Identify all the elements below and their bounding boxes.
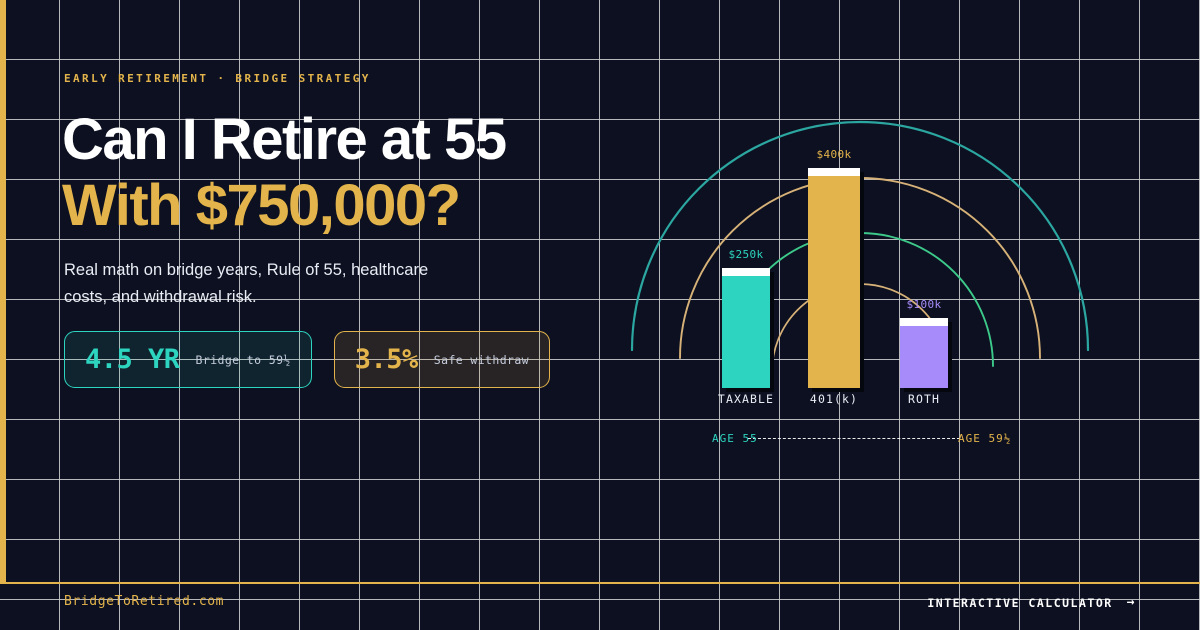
interactive-calculator-cta-label: INTERACTIVE CALCULATOR bbox=[927, 596, 1112, 610]
poster-canvas: EARLY RETIREMENT · BRIDGE STRATEGY Can I… bbox=[0, 0, 1200, 630]
bar-401k-body bbox=[808, 168, 860, 388]
timeline-age-end-label: AGE 59½ bbox=[958, 432, 1011, 445]
stat-badge-bridge: 4.5 YR Bridge to 59½ bbox=[64, 331, 312, 388]
bar-roth-body bbox=[900, 318, 948, 388]
stat-badge-withdrawal: 3.5% Safe withdraw bbox=[334, 331, 550, 388]
bar-401k-value: $400k bbox=[816, 148, 851, 161]
bar-401k-label: 401(k) bbox=[810, 392, 858, 406]
timeline-age-start-label: AGE 55 bbox=[712, 432, 758, 445]
page-title-line2: With $750,000? bbox=[62, 176, 460, 237]
stat-badge-withdrawal-value: 3.5% bbox=[355, 344, 418, 375]
page-title-line1: Can I Retire at 55 bbox=[62, 110, 506, 171]
footer-divider-rule bbox=[0, 582, 1200, 584]
interactive-calculator-cta[interactable]: INTERACTIVE CALCULATOR → bbox=[927, 595, 1136, 610]
account-balance-bar-chart: $250k TAXABLE $400k 401(k) $100k ROTH bbox=[600, 120, 1160, 470]
footer-site-name[interactable]: BridgeToRetired.com bbox=[64, 594, 224, 609]
timeline-dashed-connector bbox=[748, 438, 960, 439]
left-accent-bar bbox=[0, 0, 6, 583]
bar-roth-label: ROTH bbox=[908, 392, 940, 406]
bar-roth[interactable] bbox=[900, 318, 948, 388]
bar-401k[interactable] bbox=[808, 168, 860, 388]
bar-roth-value: $100k bbox=[906, 298, 941, 311]
bar-taxable-value: $250k bbox=[728, 248, 763, 261]
stat-badge-bridge-label: Bridge to 59½ bbox=[196, 353, 291, 367]
bar-taxable[interactable] bbox=[722, 268, 770, 388]
stat-badge-group: 4.5 YR Bridge to 59½ 3.5% Safe withdraw bbox=[64, 331, 550, 388]
decorative-arc-rings bbox=[600, 120, 1160, 470]
bar-taxable-cap bbox=[722, 268, 770, 276]
eyebrow-kicker: EARLY RETIREMENT · BRIDGE STRATEGY bbox=[64, 72, 371, 85]
page-subtitle: Real math on bridge years, Rule of 55, h… bbox=[64, 257, 464, 310]
stat-badge-withdrawal-label: Safe withdraw bbox=[434, 353, 529, 367]
age-bridge-timeline: AGE 55 AGE 59½ bbox=[600, 425, 1160, 455]
bar-roth-cap bbox=[900, 318, 948, 326]
bar-401k-cap bbox=[808, 168, 860, 176]
stat-badge-bridge-value: 4.5 YR bbox=[85, 344, 180, 375]
bar-taxable-label: TAXABLE bbox=[718, 392, 774, 406]
bar-taxable-body bbox=[722, 268, 770, 388]
arrow-right-icon: → bbox=[1127, 595, 1136, 610]
